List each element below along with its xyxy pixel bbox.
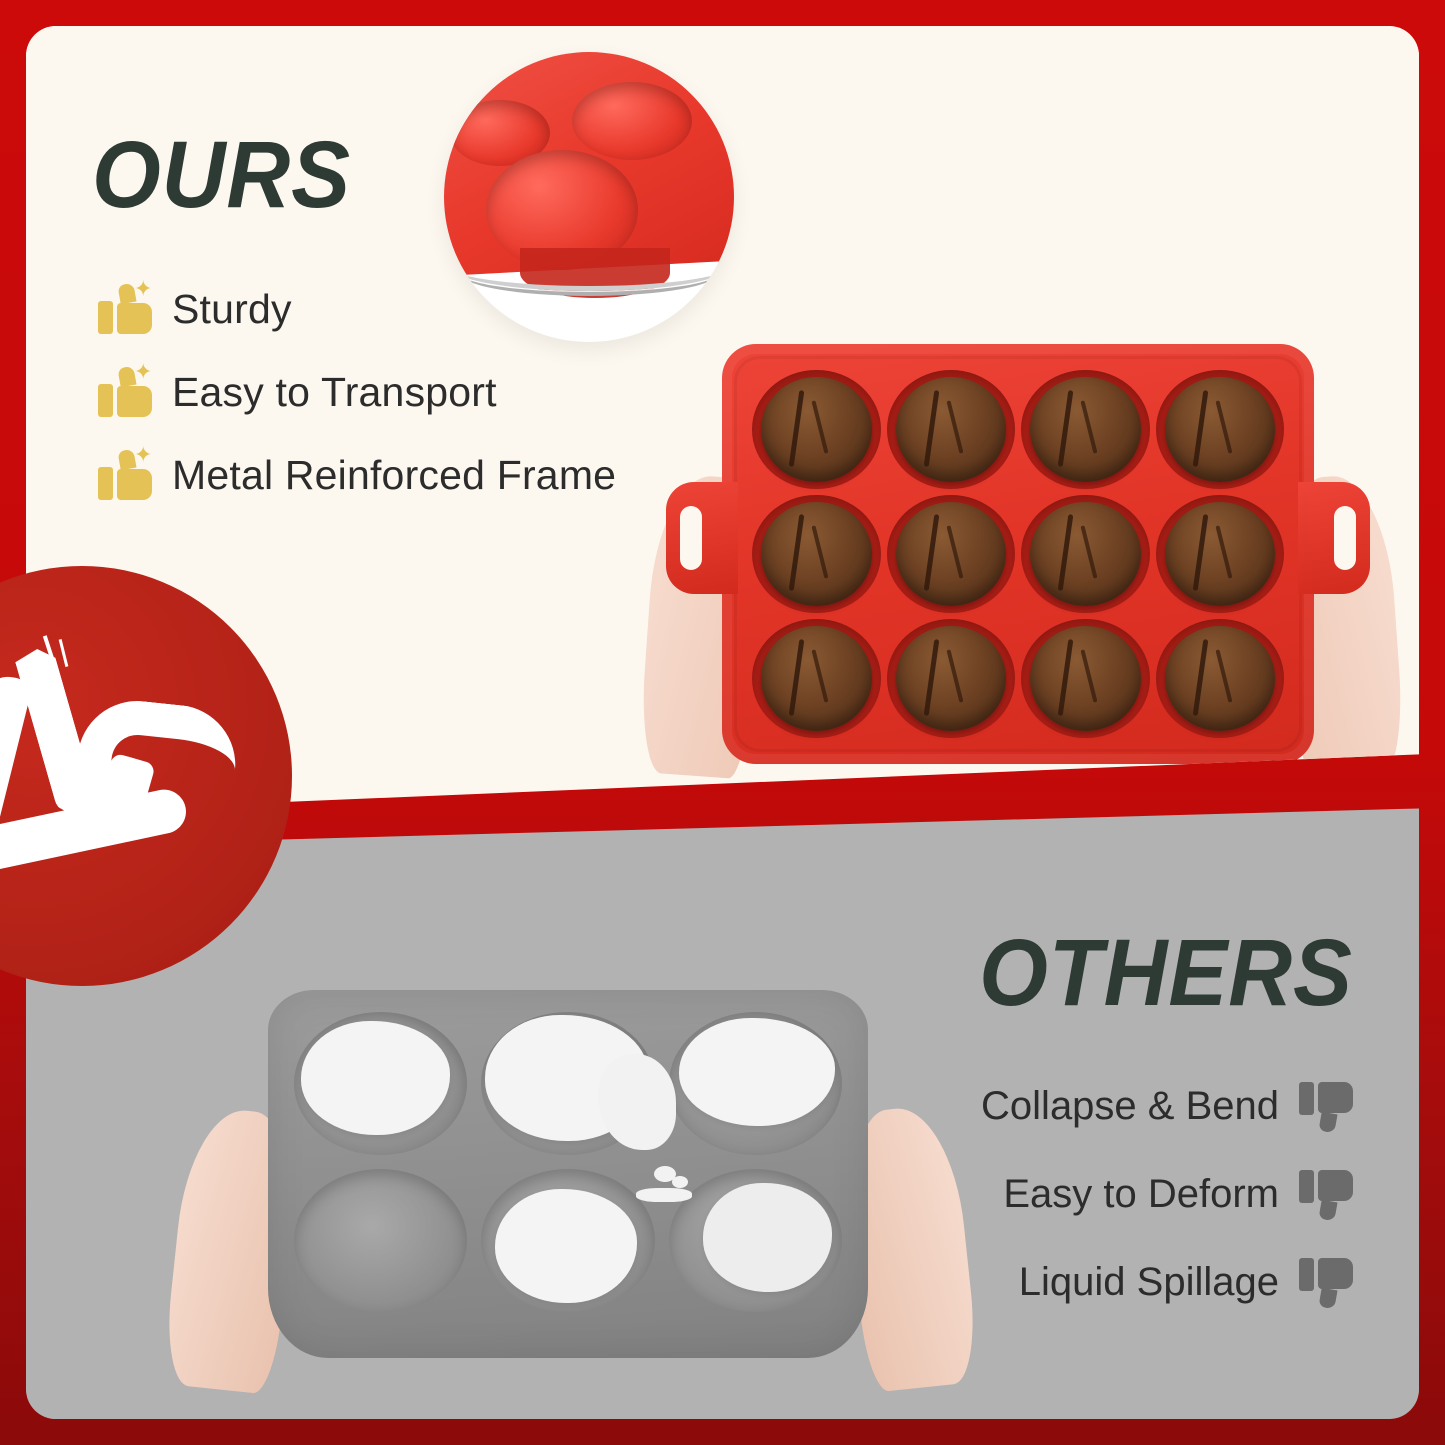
flaw-label: Collapse & Bend — [981, 1084, 1279, 1129]
chocolate-muffin — [1030, 626, 1141, 730]
batter-droplet — [672, 1176, 688, 1188]
spilled-batter — [301, 1021, 450, 1135]
benefit-row: ✦ ✦ Easy to Transport — [98, 351, 738, 434]
muffin-cup — [1021, 495, 1150, 614]
thumbs-up-icon: ✦ ✦ — [98, 367, 152, 419]
handle-cutout — [1334, 506, 1356, 570]
others-heading: OTHERS — [979, 926, 1353, 1021]
comparison-poster: OURS ✦ ✦ Sturdy ✦ ✦ Easy to Transport ✦ … — [0, 0, 1445, 1445]
gray-silicone-pan — [268, 990, 868, 1358]
ours-heading: OURS — [92, 128, 351, 223]
chocolate-muffin — [1030, 502, 1141, 606]
thumbs-down-icon — [1299, 1168, 1353, 1220]
muffin-cup-grid — [294, 1012, 842, 1312]
chocolate-muffin — [896, 502, 1007, 606]
sparkle-icon: ✦ — [134, 444, 152, 466]
flaw-row: Collapse & Bend — [933, 1062, 1353, 1150]
muffin-cup — [1021, 619, 1150, 738]
thumbs-down-icon — [1299, 1080, 1353, 1132]
others-flaw-list: Collapse & Bend Easy to Deform Liquid Sp… — [933, 1062, 1353, 1326]
muffin-cup — [752, 370, 881, 489]
muffin-cup — [1156, 495, 1285, 614]
muffin-cup — [887, 495, 1016, 614]
thumbs-down-icon — [1299, 1256, 1353, 1308]
chocolate-muffin — [1030, 377, 1141, 481]
thumbs-up-icon: ✦ ✦ — [98, 284, 152, 336]
chocolate-muffin — [896, 377, 1007, 481]
muffin-cup — [752, 619, 881, 738]
benefit-label: Sturdy — [172, 286, 292, 333]
muffin-cup — [1156, 370, 1285, 489]
spilled-batter — [495, 1189, 637, 1303]
chocolate-muffin — [896, 626, 1007, 730]
spilled-batter — [679, 1018, 835, 1127]
benefit-row: ✦ ✦ Sturdy — [98, 268, 738, 351]
thumbs-up-icon: ✦ ✦ — [98, 450, 152, 502]
chocolate-muffin — [1165, 377, 1276, 481]
muffin-cup — [481, 1169, 654, 1312]
chocolate-muffin — [761, 502, 872, 606]
muffin-cup — [752, 495, 881, 614]
chocolate-muffin — [1165, 502, 1276, 606]
chocolate-muffin — [761, 377, 872, 481]
flaw-row: Liquid Spillage — [933, 1238, 1353, 1326]
red-muffin-pan-photo — [626, 326, 1406, 816]
muffin-cup — [887, 619, 1016, 738]
muffin-cup — [887, 370, 1016, 489]
benefit-label: Metal Reinforced Frame — [172, 452, 616, 499]
chocolate-muffin — [761, 626, 872, 730]
muffin-cup — [294, 1012, 467, 1155]
flaw-label: Easy to Deform — [1003, 1172, 1279, 1217]
sparkle-icon: ✦ — [134, 361, 152, 383]
muffin-cup-grid — [752, 370, 1284, 738]
ours-benefit-list: ✦ ✦ Sturdy ✦ ✦ Easy to Transport ✦ ✦ Met… — [98, 268, 738, 517]
benefit-label: Easy to Transport — [172, 369, 497, 416]
pan-handle-right — [1298, 482, 1370, 594]
muffin-cup — [1156, 619, 1285, 738]
muffin-cup — [1021, 370, 1150, 489]
benefit-row: ✦ ✦ Metal Reinforced Frame — [98, 434, 738, 517]
flaw-label: Liquid Spillage — [1019, 1260, 1279, 1305]
pan-cup — [572, 82, 692, 160]
sparkle-icon: ✦ — [134, 278, 152, 300]
muffin-cup — [294, 1169, 467, 1312]
muffin-cup — [669, 1169, 842, 1312]
gray-muffin-pan-photo — [176, 990, 966, 1410]
batter-drip — [636, 1188, 692, 1202]
spilled-batter — [703, 1183, 831, 1292]
muffin-cup — [669, 1012, 842, 1155]
vs-brush-lettering — [0, 661, 212, 891]
chocolate-muffin — [1165, 626, 1276, 730]
flaw-row: Easy to Deform — [933, 1150, 1353, 1238]
red-silicone-pan — [722, 344, 1314, 764]
